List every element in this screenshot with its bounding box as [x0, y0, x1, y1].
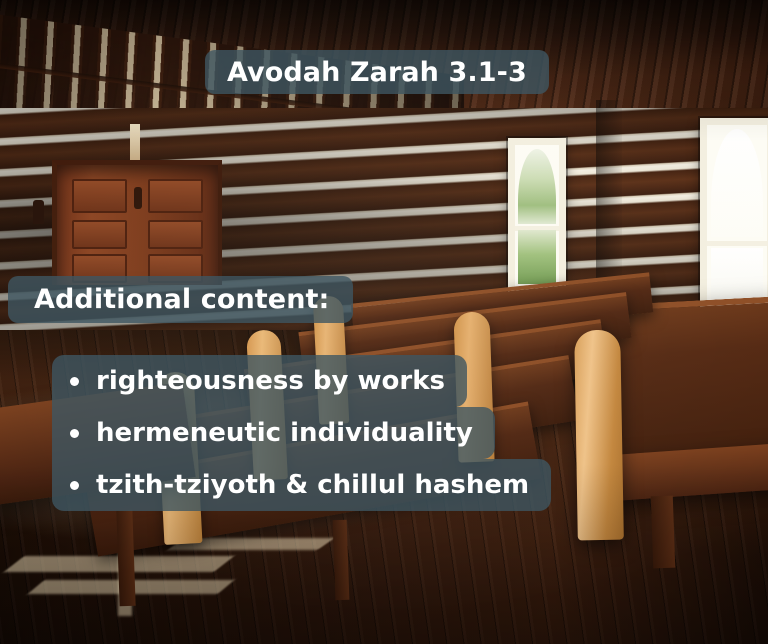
bullet-dot-icon [70, 429, 79, 438]
list-item-label: hermeneutic individuality [96, 420, 473, 446]
text-overlay: Avodah Zarah 3.1-3 Additional content: r… [0, 0, 768, 644]
list-item: tzith-tziyoth & chillul hashem [52, 459, 551, 511]
additional-content-heading: Additional content: [8, 276, 353, 323]
list-item: righteousness by works [52, 355, 467, 407]
slide-canvas: Avodah Zarah 3.1-3 Additional content: r… [0, 0, 768, 644]
list-item: hermeneutic individuality [52, 407, 495, 459]
bullet-dot-icon [70, 377, 79, 386]
list-item-label: righteousness by works [96, 368, 445, 394]
list-item-label: tzith-tziyoth & chillul hashem [96, 472, 529, 498]
slide-title: Avodah Zarah 3.1-3 [205, 50, 549, 94]
bullet-list: righteousness by works hermeneutic indiv… [52, 355, 551, 511]
bullet-dot-icon [70, 481, 79, 490]
